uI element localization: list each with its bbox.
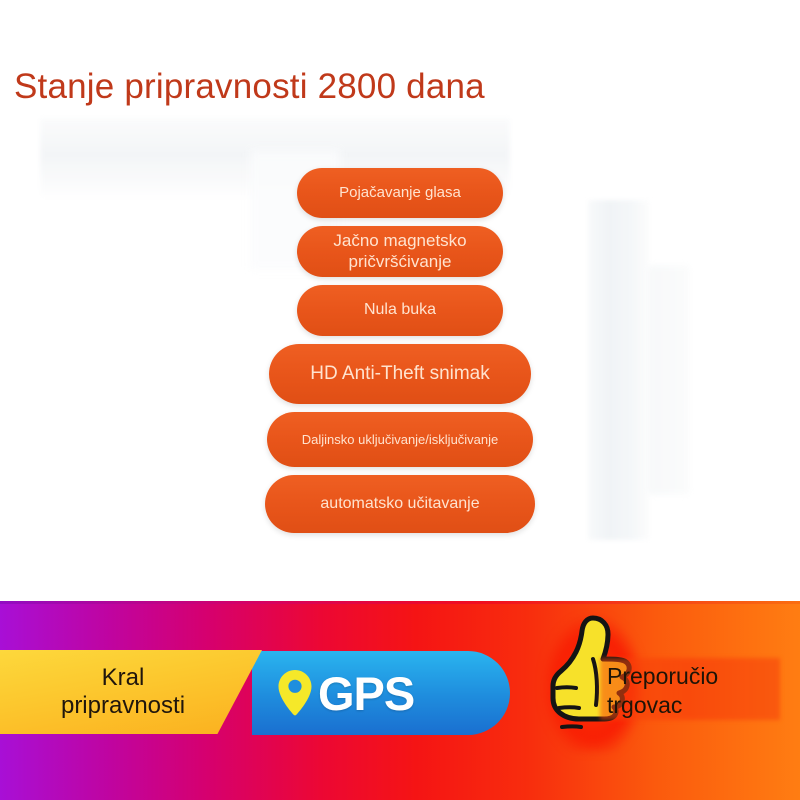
feature-pill-stack: Pojačavanje glasa Jačno magnetsko pričvr…	[0, 168, 800, 541]
feature-pill-label: Jačno magnetsko pričvršćivanje	[311, 231, 489, 271]
feature-pill-label: automatsko učitavanje	[320, 495, 479, 514]
feature-pill-zero-noise[interactable]: Nula buka	[297, 285, 503, 336]
product-feature-graphic: Stanje pripravnosti 2800 dana Pojačavanj…	[0, 0, 800, 800]
feature-row: Jačno magnetsko pričvršćivanje	[0, 226, 800, 277]
banner-top-edge	[0, 601, 800, 604]
feature-pill-auto-upload[interactable]: automatsko učitavanje	[265, 475, 535, 533]
feature-pill-label: HD Anti-Theft snimak	[310, 363, 490, 385]
feature-pill-hd-anti-theft[interactable]: HD Anti-Theft snimak	[269, 344, 531, 404]
standby-king-label: Kral pripravnosti	[61, 664, 201, 721]
feature-pill-voice-boost[interactable]: Pojačavanje glasa	[297, 168, 503, 218]
gps-brand-pill: GPS	[252, 651, 510, 735]
feature-row: Nula buka	[0, 285, 800, 336]
page-title: Stanje pripravnosti 2800 dana	[14, 68, 485, 107]
feature-pill-remote-power[interactable]: Daljinsko uključivanje/isključivanje	[267, 412, 533, 467]
feature-pill-magnetic-mount[interactable]: Jačno magnetsko pričvršćivanje	[297, 226, 503, 277]
feature-row: HD Anti-Theft snimak	[0, 344, 800, 404]
standby-king-badge: Kral pripravnosti	[0, 650, 262, 734]
feature-row: automatsko učitavanje	[0, 475, 800, 533]
endorsement-label: Preporučio trgovac	[607, 662, 718, 720]
gps-wordmark: GPS	[318, 670, 414, 717]
feature-pill-label: Daljinsko uključivanje/isključivanje	[302, 432, 499, 447]
feature-row: Pojačavanje glasa	[0, 168, 800, 218]
feature-row: Daljinsko uključivanje/isključivanje	[0, 412, 800, 467]
feature-pill-label: Nula buka	[364, 301, 436, 320]
feature-pill-label: Pojačavanje glasa	[339, 184, 461, 202]
map-pin-icon	[278, 670, 312, 716]
